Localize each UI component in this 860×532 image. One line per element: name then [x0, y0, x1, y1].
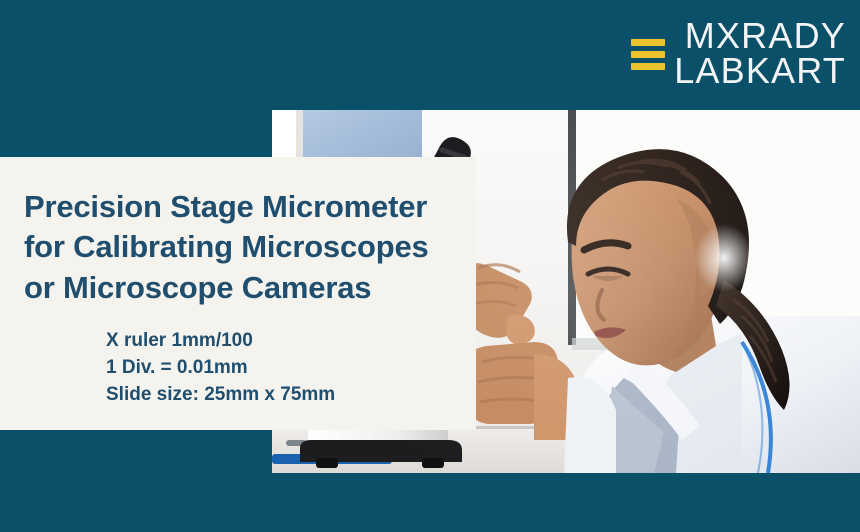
brand-line-1: MXRADY	[685, 18, 846, 53]
spec-item-3: Slide size: 25mm x 75mm	[106, 382, 454, 409]
three-bars-icon	[631, 39, 665, 70]
headline-line-1: Precision Stage Micrometer	[24, 187, 454, 227]
brand-line-2: LABKART	[674, 53, 846, 88]
headline-line-2: for Calibrating Microscopes	[24, 227, 454, 267]
promo-banner: MXRADY LABKART Precision Stage Micromete…	[0, 0, 860, 532]
logo-bar-1	[631, 39, 665, 46]
headline-line-3: or Microscope Cameras	[24, 268, 454, 308]
logo-bar-3	[631, 63, 665, 70]
specs-list: X ruler 1mm/100 1 Div. = 0.01mm Slide si…	[106, 328, 454, 409]
brand-wordmark: MXRADY LABKART	[674, 18, 846, 89]
spec-item-2: 1 Div. = 0.01mm	[106, 355, 454, 382]
headline-card: Precision Stage Micrometer for Calibrati…	[0, 157, 476, 430]
logo-bar-2	[631, 51, 665, 58]
page-title: Precision Stage Micrometer for Calibrati…	[24, 187, 454, 308]
brand-logo: MXRADY LABKART	[631, 18, 846, 89]
spec-item-1: X ruler 1mm/100	[106, 328, 454, 355]
